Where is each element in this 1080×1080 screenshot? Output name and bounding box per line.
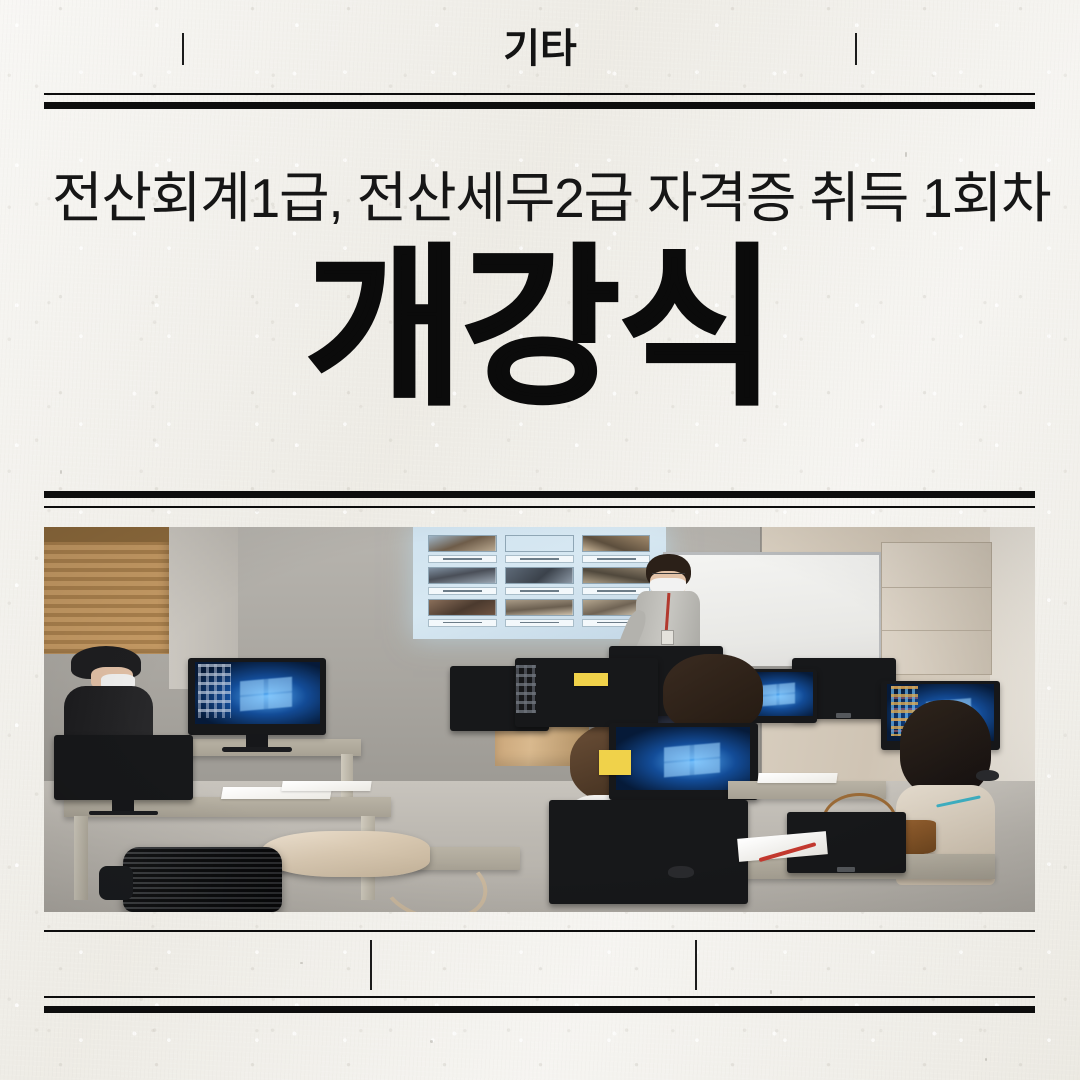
sticky-note bbox=[574, 673, 608, 686]
screen-thumb-caption bbox=[505, 555, 573, 563]
desk-leg bbox=[74, 816, 88, 901]
window-blinds bbox=[44, 527, 173, 654]
back-cabinet bbox=[881, 542, 992, 675]
footer-thick-rule bbox=[44, 1006, 1035, 1013]
header-right-tick-icon bbox=[855, 33, 857, 65]
monitor-stand bbox=[246, 734, 268, 747]
mouse bbox=[668, 866, 694, 878]
screen-thumb-caption bbox=[428, 555, 496, 563]
header: 기타 bbox=[0, 0, 1080, 112]
screen-thumb-cell bbox=[505, 599, 573, 627]
monitor-stand bbox=[112, 800, 134, 811]
sticky-note bbox=[599, 750, 631, 775]
monitor-back bbox=[549, 800, 747, 904]
screen-thumbnail bbox=[428, 599, 496, 616]
screen-thumb-caption bbox=[428, 587, 496, 595]
paper-speck bbox=[905, 152, 907, 157]
header-thin-rule bbox=[44, 93, 1035, 95]
footer-bottom-thin-rule bbox=[44, 996, 1035, 998]
monitor-back bbox=[54, 735, 193, 800]
monitor-logo bbox=[837, 867, 855, 871]
screen-thumb-caption bbox=[505, 619, 573, 627]
footer bbox=[0, 928, 1080, 1038]
screen-thumbnail bbox=[428, 567, 496, 584]
footer-left-tick-icon bbox=[370, 940, 372, 990]
monitor-back bbox=[515, 658, 659, 727]
paper-speck bbox=[430, 1040, 433, 1043]
screen-thumb-cell bbox=[505, 567, 573, 595]
paper bbox=[281, 781, 372, 791]
mid-thick-rule bbox=[44, 491, 1035, 498]
footer-right-tick-icon bbox=[695, 940, 697, 990]
screen-thumbnail bbox=[505, 599, 573, 616]
paper bbox=[757, 773, 838, 783]
instructor-badge bbox=[661, 630, 674, 645]
monitor-screen bbox=[195, 662, 320, 724]
monitor bbox=[188, 658, 327, 735]
paper-speck bbox=[985, 1058, 987, 1061]
desktop-icons bbox=[198, 664, 230, 719]
poster-main-title: 개강식 bbox=[0, 236, 1080, 422]
paper-speck bbox=[60, 470, 62, 474]
screen-thumb-cell bbox=[428, 599, 496, 627]
screen-thumb-cell bbox=[505, 535, 573, 563]
monitor-base bbox=[89, 811, 158, 815]
office-chair bbox=[123, 847, 282, 912]
screen-thumb-cell bbox=[428, 535, 496, 563]
screen-thumbnail bbox=[505, 567, 573, 584]
screen-thumb-caption bbox=[428, 619, 496, 627]
student-hair bbox=[900, 700, 991, 796]
mid-thin-rule bbox=[44, 506, 1035, 508]
photo-scene bbox=[44, 527, 1035, 912]
header-thick-rule bbox=[44, 102, 1035, 109]
category-label: 기타 bbox=[0, 26, 1080, 72]
poster-subtitle: 전산회계1급, 전산세무2급 자격증 취득 1회차 bbox=[52, 166, 1038, 230]
screen-thumb-cell bbox=[428, 567, 496, 595]
monitor-logo bbox=[836, 713, 852, 717]
blinds-headrail bbox=[44, 527, 173, 542]
screen-thumbnail bbox=[428, 535, 496, 552]
mouse bbox=[976, 770, 1000, 782]
chair-armrest bbox=[99, 866, 134, 901]
poster-card: 기타 전산회계1급, 전산세무2급 자격증 취득 1회차 개강식 bbox=[0, 0, 1080, 1080]
classroom-photo bbox=[44, 527, 1035, 912]
screen-thumb-caption bbox=[505, 587, 573, 595]
screen-thumbnail bbox=[582, 535, 650, 552]
desktop-icons bbox=[516, 665, 536, 714]
monitor-base bbox=[222, 747, 291, 752]
screen-thumbnail bbox=[505, 535, 573, 552]
